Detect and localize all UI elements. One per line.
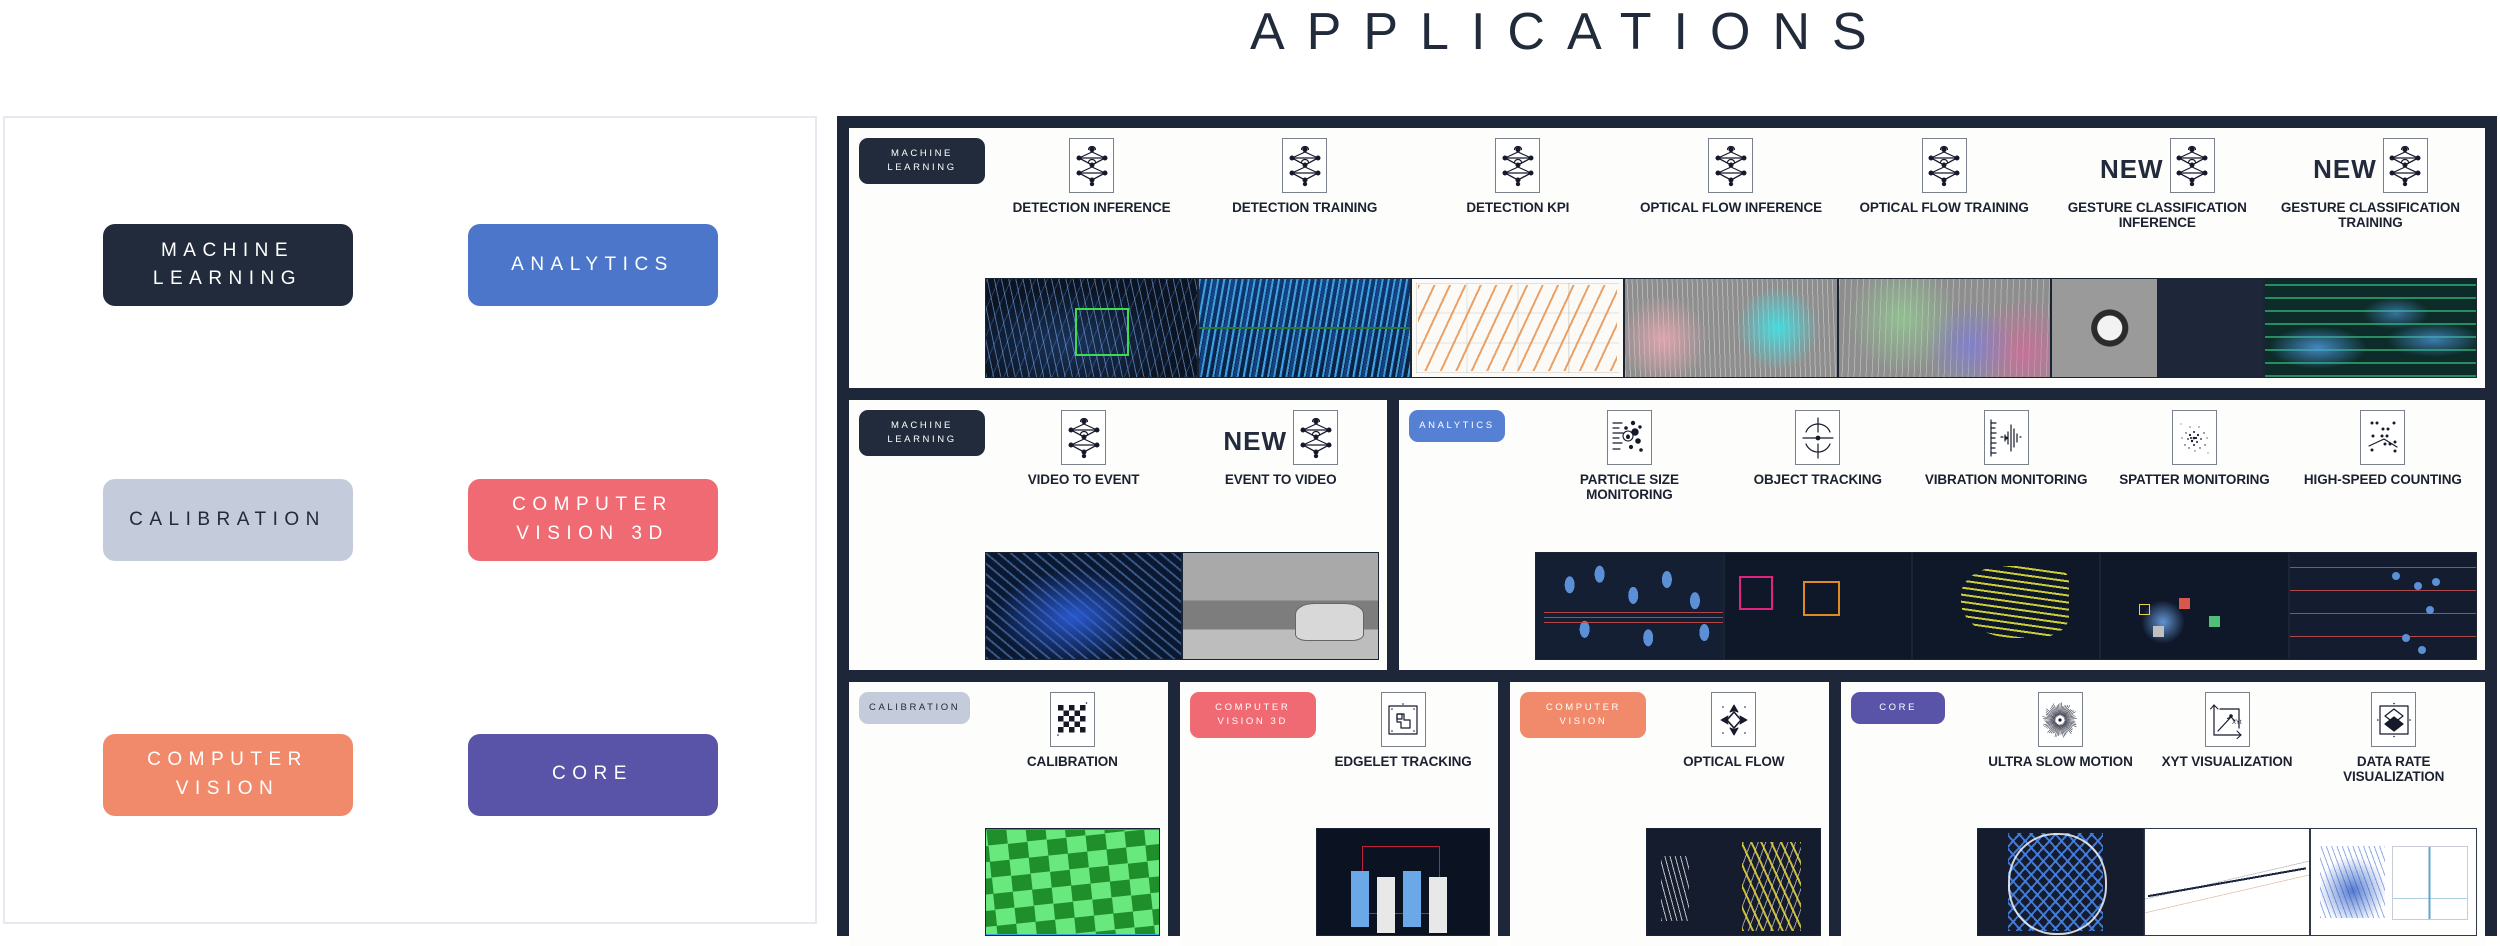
- item-thumbnail[interactable]: [1535, 552, 1723, 660]
- item-caption: OBJECT TRACKING: [1724, 472, 1912, 487]
- item-icon-row: [1838, 138, 2051, 196]
- application-item[interactable]: HIGH-SPEED COUNTING: [2289, 410, 2477, 660]
- item-caption: OPTICAL FLOW TRAINING: [1838, 200, 2051, 215]
- panel-category-cell: MACHINE LEARNING: [859, 138, 985, 378]
- item-caption: GESTURE CLASSIFICATION TRAINING: [2264, 200, 2477, 230]
- item-icon-row: [2310, 692, 2477, 750]
- item-thumbnail[interactable]: [2264, 278, 2477, 378]
- neural-network-icon: [1708, 138, 1753, 193]
- application-item[interactable]: DETECTION TRAINING: [1198, 138, 1411, 378]
- legend-grid: MACHINE LEARNINGANALYTICSCALIBRATIONCOMP…: [5, 118, 815, 922]
- legend-chip-analytics[interactable]: ANALYTICS: [468, 224, 718, 306]
- item-icon-row: [1724, 410, 1912, 468]
- item-icon-row: [985, 692, 1160, 750]
- item-icon-row: [1411, 138, 1624, 196]
- item-thumbnail[interactable]: [2289, 552, 2477, 660]
- application-item[interactable]: CALIBRATION: [985, 692, 1160, 936]
- application-item[interactable]: OBJECT TRACKING: [1724, 410, 1912, 660]
- item-icon-row: NEW: [2051, 138, 2264, 196]
- neural-network-icon: [1069, 138, 1114, 193]
- item-caption: ULTRA SLOW MOTION: [1977, 754, 2144, 769]
- application-item[interactable]: DETECTION INFERENCE: [985, 138, 1198, 378]
- item-icon-row: [2289, 410, 2477, 468]
- item-caption: HIGH-SPEED COUNTING: [2289, 472, 2477, 487]
- item-thumbnail[interactable]: [985, 828, 1160, 936]
- item-thumbnail[interactable]: [1912, 552, 2100, 660]
- legend-chip-core[interactable]: CORE: [468, 734, 718, 816]
- category-chip-grey[interactable]: CALIBRATION: [859, 692, 970, 724]
- application-item[interactable]: SPATTER MONITORING: [2100, 410, 2288, 660]
- panel-machine-learning-top: MACHINE LEARNING DETECTION INFERENCE: [849, 128, 2485, 388]
- application-item[interactable]: PARTICLE SIZE MONITORING: [1535, 410, 1723, 660]
- neural-network-icon: [2170, 138, 2215, 193]
- item-icon-row: [1912, 410, 2100, 468]
- item-caption: OPTICAL FLOW INFERENCE: [1624, 200, 1837, 215]
- application-item[interactable]: NEW EVENT TO VIDEO: [1182, 410, 1379, 660]
- item-caption: DATA RATE VISUALIZATION: [2310, 754, 2477, 784]
- application-item[interactable]: NEW GESTURE CLASSIFICATION TRAINING: [2264, 138, 2477, 378]
- item-caption: VIBRATION MONITORING: [1912, 472, 2100, 487]
- page-title: APPLICATIONS: [1250, 6, 2250, 58]
- item-thumbnail[interactable]: [1977, 828, 2144, 936]
- new-badge: NEW: [2100, 156, 2164, 182]
- item-caption: DETECTION KPI: [1411, 200, 1624, 215]
- item-thumbnail[interactable]: [2310, 828, 2477, 936]
- legend-card: MACHINE LEARNINGANALYTICSCALIBRATIONCOMP…: [3, 116, 817, 924]
- data-rate-icon: [2371, 692, 2416, 747]
- four-arrows-icon: [1711, 692, 1756, 747]
- item-caption: EVENT TO VIDEO: [1182, 472, 1379, 487]
- panel-category-cell: CORE: [1851, 692, 1977, 936]
- item-caption: SPATTER MONITORING: [2100, 472, 2288, 487]
- item-caption: DETECTION INFERENCE: [985, 200, 1198, 215]
- radial-burst-icon: [2038, 692, 2083, 747]
- item-icon-row: [1977, 692, 2144, 750]
- counting-icon: [2360, 410, 2405, 465]
- legend-chip-computer-vision[interactable]: COMPUTER VISION: [103, 734, 353, 816]
- category-chip-orange[interactable]: COMPUTER VISION: [1520, 692, 1646, 738]
- panel-machine-learning-video: MACHINE LEARNING VIDEO TO EVENTNEW: [849, 400, 1387, 670]
- item-icon-row: [2100, 410, 2288, 468]
- neural-network-icon: [1922, 138, 1967, 193]
- item-thumbnail[interactable]: [1316, 828, 1491, 936]
- panel-core: CORE ULTRA SLOW MOTION XYtXYT VISUALIZAT…: [1841, 682, 2485, 946]
- panel-computer-vision: COMPUTER VISION OPTICAL FLOW: [1510, 682, 1829, 946]
- item-icon-row: [1624, 138, 1837, 196]
- item-caption: VIDEO TO EVENT: [985, 472, 1182, 487]
- legend-chip-calibration[interactable]: CALIBRATION: [103, 479, 353, 561]
- item-thumbnail[interactable]: [1411, 278, 1624, 378]
- new-badge: NEW: [1223, 428, 1287, 454]
- application-item[interactable]: EDGELET TRACKING: [1316, 692, 1491, 936]
- edgelet-icon: [1381, 692, 1426, 747]
- item-thumbnail[interactable]: [1724, 552, 1912, 660]
- applications-board: MACHINE LEARNING DETECTION INFERENCE: [837, 116, 2497, 936]
- waveform-icon: [1984, 410, 2029, 465]
- item-thumbnail[interactable]: [985, 278, 1198, 378]
- item-thumbnail[interactable]: [2144, 828, 2311, 936]
- application-item[interactable]: VIBRATION MONITORING: [1912, 410, 2100, 660]
- checkerboard-icon: [1050, 692, 1095, 747]
- application-item[interactable]: DETECTION KPI: [1411, 138, 1624, 378]
- neural-network-icon: [1495, 138, 1540, 193]
- item-icon-row: [985, 410, 1182, 468]
- item-icon-row: XYt: [2144, 692, 2311, 750]
- item-thumbnail[interactable]: [1624, 278, 1837, 378]
- item-caption: DETECTION TRAINING: [1198, 200, 1411, 215]
- panel-category-cell: MACHINE LEARNING: [859, 410, 985, 660]
- category-chip-purple[interactable]: CORE: [1851, 692, 1945, 724]
- item-thumbnail[interactable]: [2100, 552, 2288, 660]
- application-item[interactable]: VIDEO TO EVENT: [985, 410, 1182, 660]
- item-thumbnail[interactable]: [1838, 278, 2051, 378]
- category-chip-dark[interactable]: MACHINE LEARNING: [859, 410, 985, 456]
- spatter-icon: [2172, 410, 2217, 465]
- category-chip-red[interactable]: COMPUTER VISION 3D: [1190, 692, 1316, 738]
- panel-category-cell: ANALYTICS: [1409, 410, 1535, 660]
- row-ml-analytics: MACHINE LEARNING VIDEO TO EVENTNEW: [849, 400, 2485, 670]
- panel-calibration: CALIBRATION CALIBRATION: [849, 682, 1168, 946]
- item-caption: GESTURE CLASSIFICATION INFERENCE: [2051, 200, 2264, 230]
- legend-chip-computer-vision-3d[interactable]: COMPUTER VISION 3D: [468, 479, 718, 561]
- panel-computer-vision-3d: COMPUTER VISION 3D EDGELET TRACKING: [1180, 682, 1499, 946]
- item-icon-row: [1316, 692, 1491, 750]
- item-caption: PARTICLE SIZE MONITORING: [1535, 472, 1723, 502]
- row-machine-learning: MACHINE LEARNING DETECTION INFERENCE: [849, 128, 2485, 388]
- item-caption: CALIBRATION: [985, 754, 1160, 769]
- item-thumbnail[interactable]: [1182, 552, 1379, 660]
- item-thumbnail[interactable]: [2051, 278, 2264, 378]
- xyt-axes-icon: XYt: [2205, 692, 2250, 747]
- item-thumbnail[interactable]: [985, 552, 1182, 660]
- panel-category-cell: COMPUTER VISION: [1520, 692, 1646, 936]
- row-vision-core: CALIBRATION CALIBRATIONCOMPUTER VISION 3…: [849, 682, 2485, 946]
- svg-text:XYt: XYt: [2232, 720, 2242, 726]
- legend-chip-machine-learning[interactable]: MACHINE LEARNING: [103, 224, 353, 306]
- category-chip-dark[interactable]: MACHINE LEARNING: [859, 138, 985, 184]
- neural-network-icon: [2383, 138, 2428, 193]
- item-thumbnail[interactable]: [1198, 278, 1411, 378]
- crosshair-icon: [1795, 410, 1840, 465]
- item-icon-row: [1198, 138, 1411, 196]
- application-item[interactable]: DATA RATE VISUALIZATION: [2310, 692, 2477, 936]
- item-caption: XYT VISUALIZATION: [2144, 754, 2311, 769]
- category-chip-blue[interactable]: ANALYTICS: [1409, 410, 1505, 442]
- item-caption: OPTICAL FLOW: [1646, 754, 1821, 769]
- application-item[interactable]: XYtXYT VISUALIZATION: [2144, 692, 2311, 936]
- application-item[interactable]: OPTICAL FLOW INFERENCE: [1624, 138, 1837, 378]
- item-icon-row: NEW: [1182, 410, 1379, 468]
- new-badge: NEW: [2313, 156, 2377, 182]
- neural-network-icon: [1061, 410, 1106, 465]
- neural-network-icon: [1282, 138, 1327, 193]
- item-caption: EDGELET TRACKING: [1316, 754, 1491, 769]
- item-icon-row: NEW: [2264, 138, 2477, 196]
- particle-size-icon: [1607, 410, 1652, 465]
- application-item[interactable]: OPTICAL FLOW: [1646, 692, 1821, 936]
- panel-category-cell: COMPUTER VISION 3D: [1190, 692, 1316, 936]
- item-icon-row: [1535, 410, 1723, 468]
- application-item[interactable]: OPTICAL FLOW TRAINING: [1838, 138, 2051, 378]
- application-item[interactable]: NEW GESTURE CLASSIFICATION INFERENCE: [2051, 138, 2264, 378]
- item-thumbnail[interactable]: [1646, 828, 1821, 936]
- item-icon-row: [1646, 692, 1821, 750]
- neural-network-icon: [1293, 410, 1338, 465]
- item-icon-row: [985, 138, 1198, 196]
- application-item[interactable]: ULTRA SLOW MOTION: [1977, 692, 2144, 936]
- panel-category-cell: CALIBRATION: [859, 692, 985, 936]
- panel-analytics: ANALYTICS PARTICLE SIZE MONITORING OBJEC…: [1399, 400, 2485, 670]
